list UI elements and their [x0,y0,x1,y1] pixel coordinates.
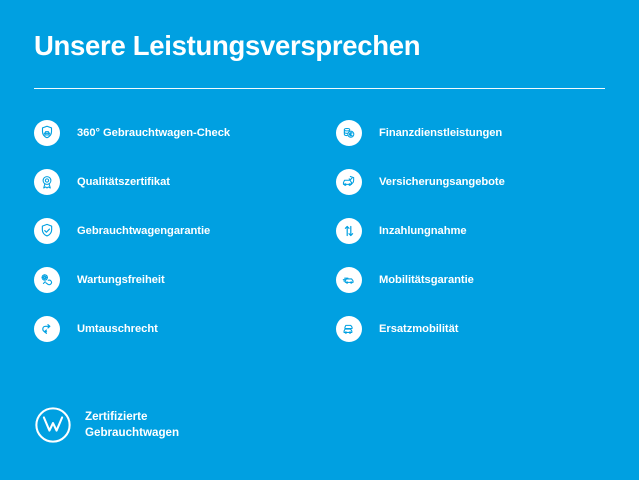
list-item: Wartungsfreiheit [34,267,306,292]
list-item-label: Versicherungsangebote [379,176,505,188]
list-item: Qualitätszertifikat [34,169,306,194]
list-item: Gebrauchtwagengarantie [34,218,306,243]
footer-text: Zertifizierte Gebrauchtwagen [85,409,179,441]
car-insurance-icon [336,169,362,195]
exchange-arrows-icon [34,316,60,342]
list-item-label: Umtauschrecht [77,323,158,335]
list-item: Inzahlungnahme [336,218,608,243]
list-item-label: 360° Gebrauchtwagen-Check [77,127,230,139]
volkswagen-logo [34,406,72,444]
list-item-label: Ersatzmobilität [379,323,458,335]
promise-columns: 360° Gebrauchtwagen-Check Qualitätszerti… [34,120,609,341]
footer-branding: Zertifizierte Gebrauchtwagen [34,406,179,444]
list-item: Versicherungsangebote [336,169,608,194]
check-badge-icon [34,218,60,244]
promise-column-right: Finanzdienstleistungen Versicherungsange… [336,120,608,341]
page-title: Unsere Leistungsversprechen [34,30,420,62]
car-check-shield-icon [34,120,60,146]
two-cars-icon [336,316,362,342]
car-speed-icon [336,267,362,293]
list-item: Umtauschrecht [34,316,306,341]
promise-poster: Unsere Leistungsversprechen 360° Gebrauc… [0,0,639,480]
coins-euro-icon [336,120,362,146]
list-item-label: Mobilitätsgarantie [379,274,474,286]
footer-line-1: Zertifizierte [85,410,148,423]
list-item-label: Gebrauchtwagengarantie [77,225,210,237]
promise-column-left: 360° Gebrauchtwagen-Check Qualitätszerti… [34,120,306,341]
footer-line-2: Gebrauchtwagen [85,426,179,439]
list-item-label: Inzahlungnahme [379,225,467,237]
list-item-label: Finanzdienstleistungen [379,127,502,139]
divider [34,88,605,89]
wrench-gear-icon [34,267,60,293]
up-down-arrows-icon [336,218,362,244]
list-item: Ersatzmobilität [336,316,608,341]
list-item: Mobilitätsgarantie [336,267,608,292]
list-item-label: Qualitätszertifikat [77,176,170,188]
quality-seal-icon [34,169,60,195]
list-item: 360° Gebrauchtwagen-Check [34,120,306,145]
list-item: Finanzdienstleistungen [336,120,608,145]
list-item-label: Wartungsfreiheit [77,274,165,286]
